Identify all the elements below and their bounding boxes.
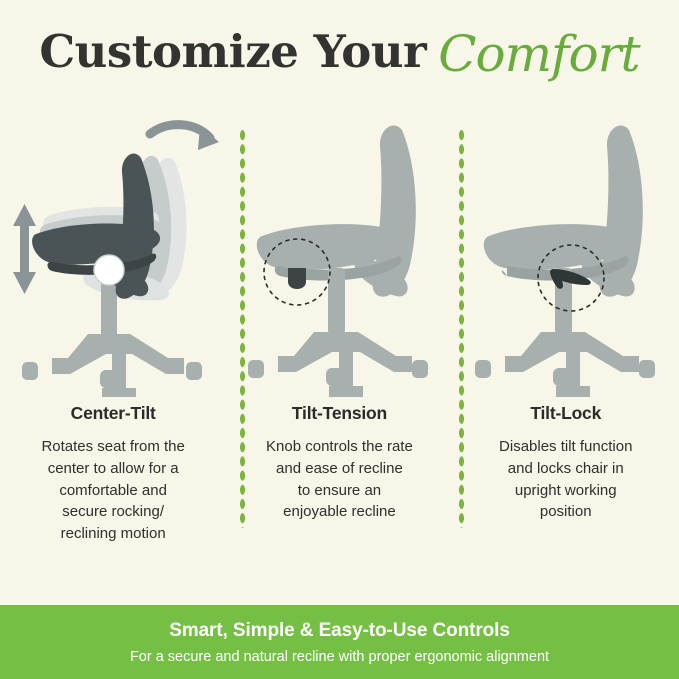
feature-description-tilt-tension: Knob controls the rate and ease of recli… [239,436,439,523]
feature-column-center-tilt: Center-Tilt Rotates seat from the center… [0,112,226,567]
footer-banner: Smart, Simple & Easy-to-Use Controls For… [0,605,679,679]
feature-title-center-tilt: Center-Tilt [71,403,156,424]
infographic-page: Customize YourComfort [0,0,679,679]
chair-base [278,332,412,397]
caster-center [326,368,345,386]
page-header: Customize YourComfort [0,0,679,100]
page-title-main: Customize Your [39,25,426,78]
chair-base [505,332,639,397]
gas-cylinder [328,268,345,334]
chair-body [475,126,655,397]
illustration-tilt-lock [453,112,679,397]
vertical-double-arrow-icon [13,204,36,294]
feature-columns: Center-Tilt Rotates seat from the center… [0,112,679,567]
feature-title-tilt-tension: Tilt-Tension [292,403,387,424]
pivot-circle [94,255,124,285]
rotate-arrow-icon [150,125,219,150]
caster-left [248,360,264,378]
illustration-center-tilt [0,112,226,397]
column-divider-1 [239,128,246,528]
feature-title-tilt-lock: Tilt-Lock [530,403,601,424]
feature-column-tilt-tension: Tilt-Tension Knob controls the rate and … [226,112,452,567]
footer-title: Smart, Simple & Easy-to-Use Controls [169,620,510,642]
caster-right [639,360,655,378]
page-title-script: Comfort [438,25,639,83]
footer-subtitle: For a secure and natural recline with pr… [130,649,549,665]
caster-center [553,368,572,386]
feature-description-center-tilt: Rotates seat from the center to allow fo… [13,436,213,545]
column-divider-2 [458,128,465,528]
feature-description-tilt-lock: Disables tilt function and locks chair i… [466,436,666,523]
illustration-tilt-tension [226,112,452,397]
caster-left [475,360,491,378]
chair-body [248,126,428,397]
page-title: Customize YourComfort [39,25,639,75]
caster-right [412,360,428,378]
feature-column-tilt-lock: Tilt-Lock Disables tilt function and loc… [453,112,679,567]
